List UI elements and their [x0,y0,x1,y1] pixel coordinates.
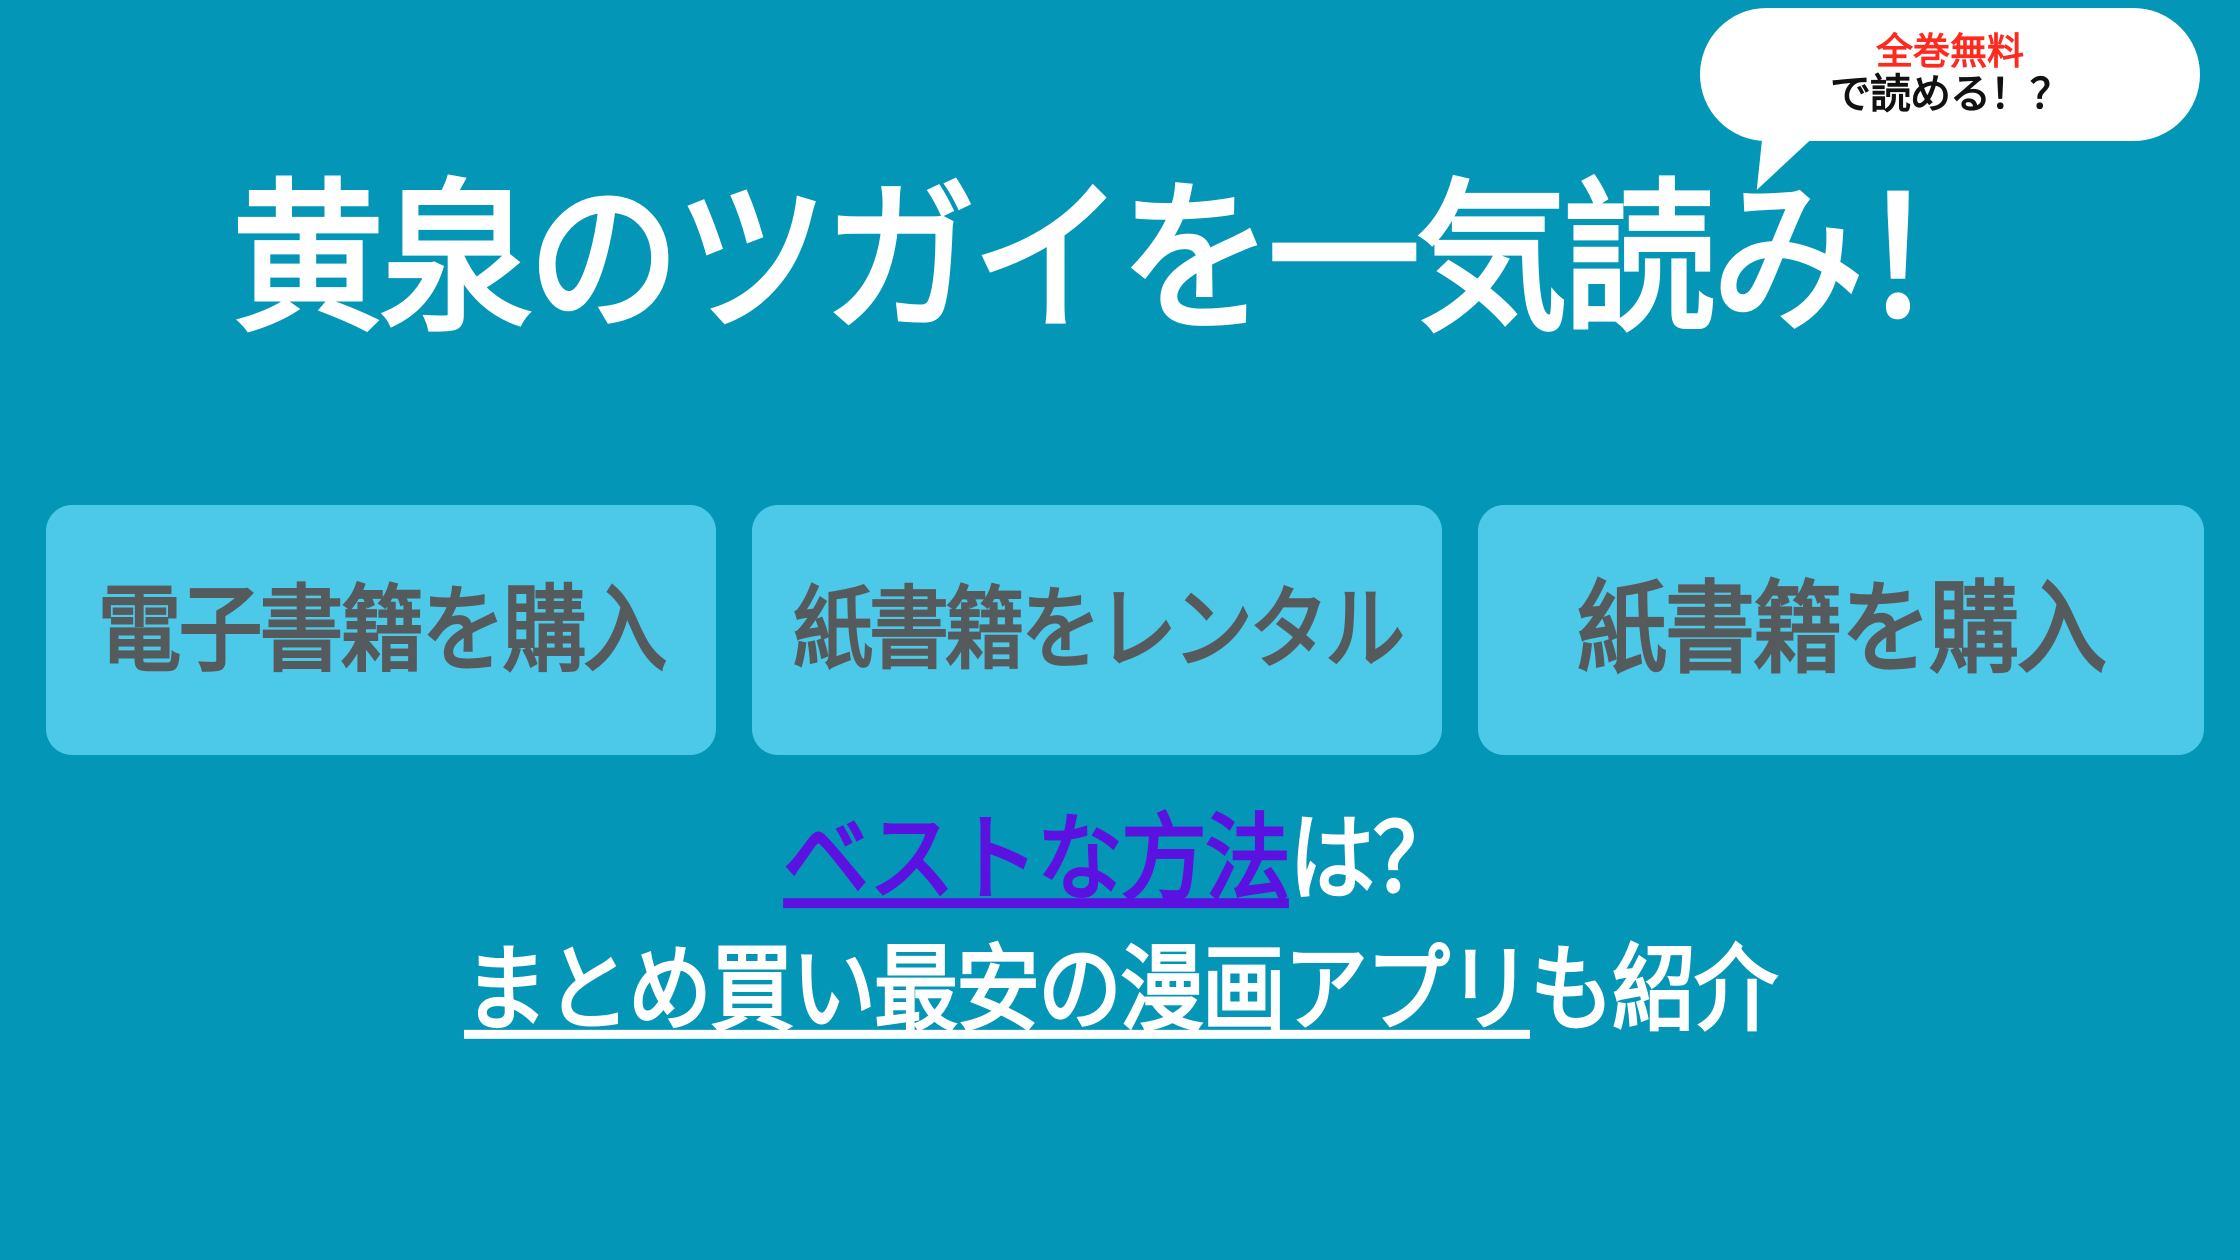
speech-bubble-text: 全巻無料 で読める！？ [1700,8,2200,141]
option-button-row: 電子書籍を購入 紙書籍をレンタル 紙書籍を購入 [46,505,2194,755]
option-button-label: 紙書籍をレンタル [793,585,1401,675]
subtitle-question: ベストな方法は？ [0,808,2240,912]
page-title: 黄泉のツガイを一気読み！ [0,168,2240,352]
cheapest-manga-app-link[interactable]: まとめ買い最安の漫画アプリ [464,937,1530,1042]
option-button-print-purchase[interactable]: 紙書籍を購入 [1478,505,2204,755]
option-button-print-rental[interactable]: 紙書籍をレンタル [752,505,1442,755]
subtitle-secondary-tail: も紹介 [1530,937,1776,1042]
promo-banner: 全巻無料 で読める！？ 黄泉のツガイを一気読み！ 電子書籍を購入 紙書籍をレンタ… [0,0,2240,1260]
subtitle-question-tail: は？ [1289,807,1457,913]
option-button-label: 紙書籍を購入 [1577,580,2105,681]
option-button-ebook-purchase[interactable]: 電子書籍を購入 [46,505,716,755]
speech-bubble: 全巻無料 で読める！？ [1700,8,2200,148]
option-button-label: 電子書籍を購入 [97,583,664,677]
speech-bubble-question: で読める！？ [1830,73,2070,116]
best-method-link[interactable]: ベストな方法 [783,807,1289,913]
subtitle-secondary: まとめ買い最安の漫画アプリも紹介 [0,938,2240,1041]
speech-bubble-highlight: 全巻無料 [1876,33,2024,72]
